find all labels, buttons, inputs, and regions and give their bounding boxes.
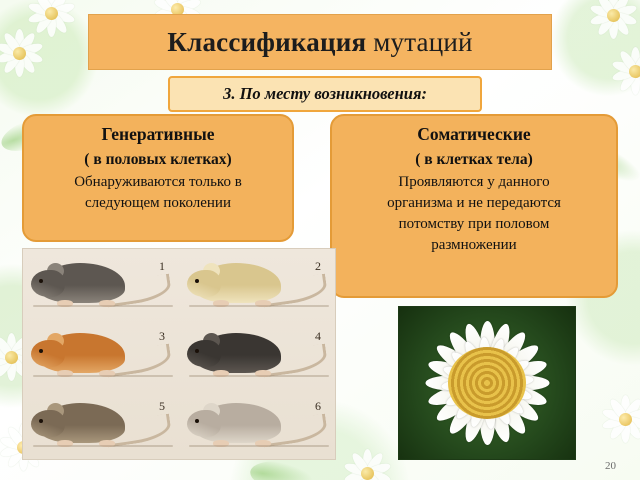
- subtitle-text: 3. По месту возникновения:: [223, 84, 427, 104]
- mouse-head: [187, 270, 221, 297]
- daisy-flower-icon: [340, 446, 394, 480]
- page-number: 20: [605, 460, 616, 472]
- mouse-head: [31, 340, 65, 367]
- mouse-ground-line: [33, 375, 173, 377]
- page-title: Классификация мутаций: [167, 27, 472, 58]
- mouse-head: [31, 410, 65, 437]
- subtitle-box: 3. По месту возникновения:: [168, 76, 482, 112]
- mice-coat-color-illustration: 123456: [22, 248, 336, 460]
- generative-mutations-box: Генеративные ( в половых клетках) Обнару…: [22, 114, 294, 242]
- slide-title-box: Классификация мутаций: [88, 14, 552, 70]
- somatic-body-line-3: потомству при половом: [342, 214, 606, 235]
- mouse-head: [187, 340, 221, 367]
- mouse-number-label: 4: [315, 329, 321, 344]
- daisy-flower-icon: [608, 44, 640, 98]
- mouse-ground-line: [189, 305, 329, 307]
- somatic-body-line-4: размножении: [342, 235, 606, 256]
- daisy-core: [5, 351, 18, 364]
- daisy-core: [361, 467, 374, 480]
- mouse-figure: 3: [23, 319, 179, 389]
- mouse-head: [31, 270, 65, 297]
- flower-center: [448, 347, 526, 419]
- chrysanthemum-photo: [398, 306, 576, 460]
- generative-body-line-1: Обнаруживаются только в: [34, 172, 282, 193]
- somatic-subheading: ( в клетках тела): [342, 149, 606, 170]
- daisy-core: [619, 413, 632, 426]
- mouse-eye: [39, 279, 43, 283]
- mouse-number-label: 2: [315, 259, 321, 274]
- mouse-figure: 6: [179, 389, 335, 459]
- mouse-ground-line: [33, 305, 173, 307]
- somatic-body-line-2: организма и не передаются: [342, 193, 606, 214]
- page-title-bold: Классификация: [167, 27, 366, 57]
- mouse-head: [187, 410, 221, 437]
- mouse-eye: [39, 349, 43, 353]
- mouse-number-label: 6: [315, 399, 321, 414]
- daisy-core: [13, 47, 26, 60]
- somatic-heading: Соматические: [342, 124, 606, 145]
- mouse-number-label: 1: [159, 259, 165, 274]
- daisy-core: [45, 7, 58, 20]
- mouse-figure: 2: [179, 249, 335, 319]
- mouse-figure: 1: [23, 249, 179, 319]
- somatic-body-line-1: Проявляются у данного: [342, 172, 606, 193]
- mouse-figure: 4: [179, 319, 335, 389]
- generative-subheading: ( в половых клетках): [34, 149, 282, 170]
- mouse-ground-line: [189, 375, 329, 377]
- mouse-ground-line: [33, 445, 173, 447]
- mouse-number-label: 3: [159, 329, 165, 344]
- daisy-core: [629, 65, 640, 78]
- daisy-flower-icon: [586, 0, 640, 42]
- slide-canvas: Классификация мутаций 3. По месту возник…: [0, 0, 640, 480]
- somatic-mutations-box: Соматические ( в клетках тела) Проявляют…: [330, 114, 618, 298]
- mouse-number-label: 5: [159, 399, 165, 414]
- daisy-core: [607, 9, 620, 22]
- mouse-figure: 5: [23, 389, 179, 459]
- mice-grid: 123456: [23, 249, 335, 459]
- page-title-rest: мутаций: [366, 27, 472, 57]
- mouse-ground-line: [189, 445, 329, 447]
- mouse-eye: [195, 349, 199, 353]
- daisy-flower-icon: [598, 392, 640, 446]
- mouse-eye: [195, 419, 199, 423]
- generative-body-line-2: следующем поколении: [34, 193, 282, 214]
- daisy-flower-icon: [24, 0, 78, 40]
- mouse-eye: [39, 419, 43, 423]
- mouse-eye: [195, 279, 199, 283]
- generative-heading: Генеративные: [34, 124, 282, 145]
